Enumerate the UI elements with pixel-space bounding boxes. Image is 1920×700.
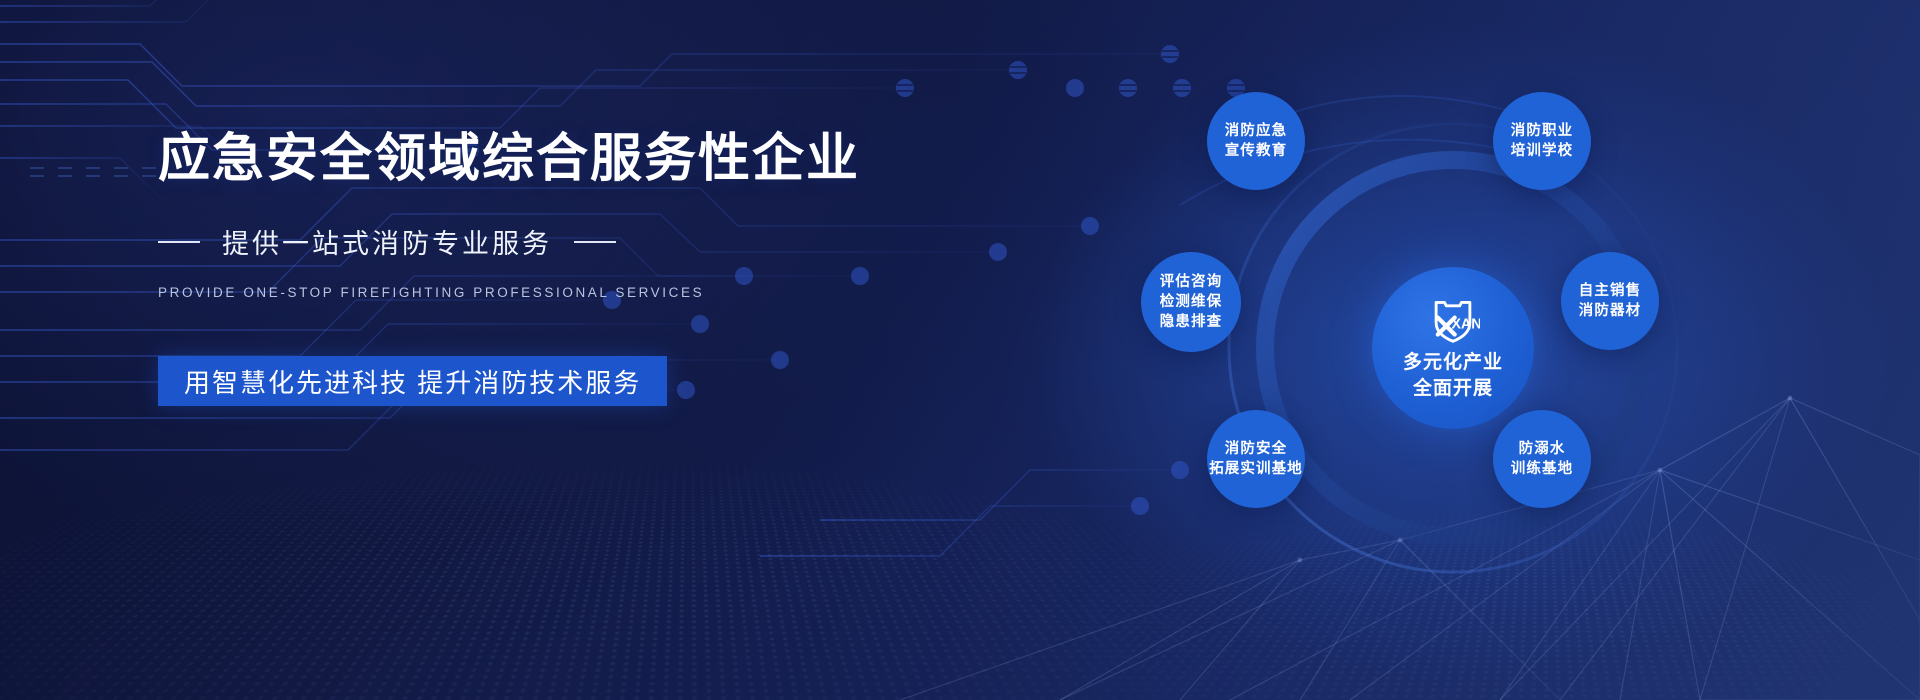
node-bl-line2: 拓展实训基地 xyxy=(1209,459,1303,479)
diagram-center-node[interactable]: XAN 多元化产业 全面开展 xyxy=(1372,267,1534,429)
svg-text:XAN: XAN xyxy=(1451,316,1480,332)
node-l-line2: 检测维保 xyxy=(1160,292,1222,312)
rule-right-icon xyxy=(574,241,616,243)
node-tr-line1: 消防职业 xyxy=(1511,121,1573,141)
center-label-line1: 多元化产业 xyxy=(1403,350,1503,376)
node-tr-line2: 培训学校 xyxy=(1511,141,1573,161)
cta-button-label: 用智慧化先进科技 提升消防技术服务 xyxy=(184,363,641,400)
diagram-node-drowning-prevention-base[interactable]: 防溺水 训练基地 xyxy=(1493,410,1591,508)
business-circle-diagram: XAN 多元化产业 全面开展 消防应急 宣传教育 消防职业 培训学校 评估咨询 … xyxy=(1123,52,1803,652)
center-label-line2: 全面开展 xyxy=(1413,376,1493,402)
rule-left-icon xyxy=(158,241,200,243)
page-title: 应急安全领域综合服务性企业 xyxy=(158,128,918,190)
node-br-line1: 防溺水 xyxy=(1519,439,1566,459)
subtitle-row: 提供一站式消防专业服务 xyxy=(158,222,918,261)
diagram-node-safety-training-base[interactable]: 消防安全 拓展实训基地 xyxy=(1207,410,1305,508)
node-r-line2: 消防器材 xyxy=(1579,301,1641,321)
diagram-node-vocational-training-school[interactable]: 消防职业 培训学校 xyxy=(1493,92,1591,190)
diagram-node-fire-emergency-publicity[interactable]: 消防应急 宣传教育 xyxy=(1207,92,1305,190)
page-subtitle: 提供一站式消防专业服务 xyxy=(222,222,552,261)
node-l-line1: 评估咨询 xyxy=(1160,272,1222,292)
node-tl-line2: 宣传教育 xyxy=(1225,141,1287,161)
node-bl-line1: 消防安全 xyxy=(1225,439,1287,459)
node-r-line1: 自主销售 xyxy=(1579,281,1641,301)
english-tagline: PROVIDE ONE-STOP FIREFIGHTING PROFESSION… xyxy=(158,285,918,300)
node-br-line2: 训练基地 xyxy=(1511,459,1573,479)
hero-copy: 应急安全领域综合服务性企业 提供一站式消防专业服务 PROVIDE ONE-ST… xyxy=(158,128,918,406)
diagram-node-assessment-inspection[interactable]: 评估咨询 检测维保 隐患排查 xyxy=(1141,252,1241,352)
xan-shield-logo-icon: XAN xyxy=(1426,294,1480,348)
node-tl-line1: 消防应急 xyxy=(1225,121,1287,141)
cta-button[interactable]: 用智慧化先进科技 提升消防技术服务 xyxy=(158,356,667,406)
hero-banner: 应急安全领域综合服务性企业 提供一站式消防专业服务 PROVIDE ONE-ST… xyxy=(0,0,1920,700)
diagram-node-equipment-sales[interactable]: 自主销售 消防器材 xyxy=(1561,252,1659,350)
node-l-line3: 隐患排查 xyxy=(1160,312,1222,332)
